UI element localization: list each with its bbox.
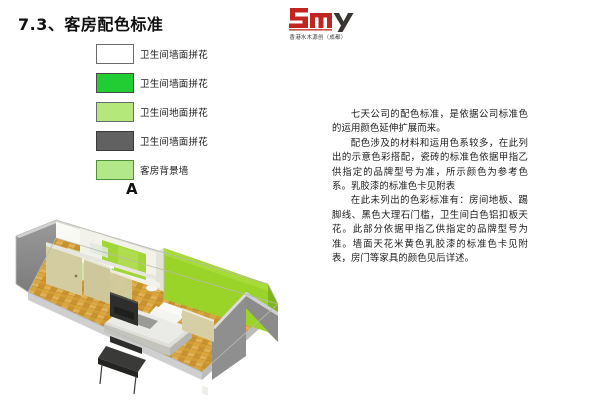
color-swatch [96,131,134,151]
color-swatch [96,102,134,122]
legend-label: 卫生间墙面拼花 [140,47,208,61]
description-paragraph: 七天公司的配色标准，是依据公司标准色的运用颜色延伸扩展而来。 [332,108,528,137]
color-swatch [96,160,134,180]
description-paragraph: 配色涉及的材料和运用色系较多，在此列出的示意色彩搭配，瓷砖的标准色依据甲指乙供指… [332,137,528,195]
legend-label: 卫生间墙面拼花 [140,76,208,90]
logo-wordmark-smy [268,6,368,32]
slide-page: 7.3、客房配色标准 香港水木源创（成都） 卫生间墙面拼花 卫生间墙面拼花 [0,0,604,407]
legend-row: 客房背景墙 [96,155,286,184]
color-swatch [96,73,134,93]
legend-row: 卫生间墙面拼花 [96,126,286,155]
legend-row: 卫生间墙面拼花 [96,68,286,97]
description-paragraph: 在此未列出的色彩标准有：房间地板、踢脚线、黑色大理石门槛，卫生间白色铝扣板天花。… [332,194,528,266]
guestroom-3d-render [6,196,306,396]
description-text: 七天公司的配色标准，是依据公司标准色的运用颜色延伸扩展而来。 配色涉及的材料和运… [332,108,528,266]
color-legend: 卫生间墙面拼花 卫生间墙面拼花 卫生间地面拼花 卫生间墙面拼花 客房背景墙 [96,39,286,184]
legend-label: 卫生间地面拼花 [140,105,208,119]
legend-label: 客房背景墙 [140,163,189,177]
color-swatch [96,44,134,64]
legend-label: 卫生间墙面拼花 [140,134,208,148]
legend-row: 卫生间墙面拼花 [96,39,286,68]
legend-row: 卫生间地面拼花 [96,97,286,126]
page-title: 7.3、客房配色标准 [18,11,163,35]
